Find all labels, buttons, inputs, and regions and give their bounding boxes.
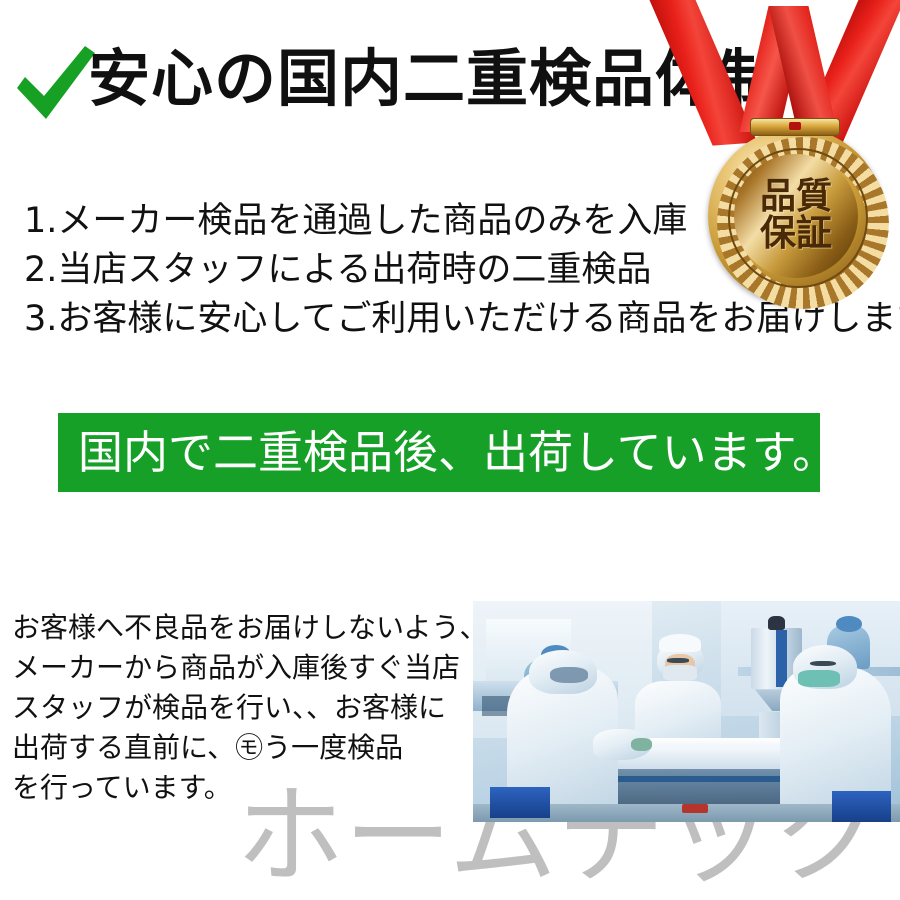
gold-medal-icon: 品質 保証	[708, 128, 884, 304]
green-highlight-banner: 国内で二重検品後、出荷しています。	[58, 413, 820, 492]
photo-filling-machine-stripe	[776, 630, 787, 687]
description-line: メーカーから商品が入庫後すぐ当店	[12, 648, 472, 688]
cleanroom-inspection-photo	[473, 601, 900, 822]
ribbon-clasp-icon	[750, 118, 840, 136]
medal-text-line1: 品質	[760, 179, 832, 216]
list-item: 3.お客様に安心してご利用いただける商品をお届けします	[24, 295, 894, 344]
quality-guarantee-medal: 品質 保証	[688, 0, 900, 262]
photo-red-item	[682, 804, 708, 813]
photo-blue-crate-right	[832, 791, 892, 822]
photo-worker-left-visor	[550, 667, 588, 682]
description-line: お客様へ不良品をお届けしないよう、	[12, 608, 472, 648]
medal-face: 品質 保証	[734, 154, 858, 278]
photo-worker-center-mask	[663, 665, 697, 680]
description-line: を行っています。	[12, 768, 472, 808]
photo-worker-center-eyes	[667, 658, 688, 662]
promo-image-canvas: 品質 保証 安心の国内二重検品体制 1.メーカー検品を通過した商品のみを入庫 2…	[0, 0, 900, 900]
description-paragraph: お客様へ不良品をお届けしないよう、 メーカーから商品が入庫後すぐ当店 スタッフが…	[12, 608, 472, 808]
photo-blue-crate-left	[490, 787, 550, 818]
photo-table-crossbar	[588, 776, 802, 783]
photo-worker-right-mask	[798, 670, 841, 688]
photo-worker-center-cap	[659, 634, 702, 652]
banner-text: 国内で二重検品後、出荷しています。	[58, 430, 837, 475]
description-line: 出荷する直前に、㋲う一度検品	[12, 728, 472, 768]
photo-worker-background-right-hood	[836, 616, 862, 631]
photo-filling-machine-knob	[768, 616, 785, 629]
medal-text-line2: 保証	[760, 216, 832, 253]
photo-worker-right-eyes	[810, 661, 836, 667]
green-check-icon	[13, 44, 97, 124]
description-line: スタッフが検品を行い、、お客様に	[12, 688, 472, 728]
photo-worker-left-glove	[631, 738, 652, 751]
